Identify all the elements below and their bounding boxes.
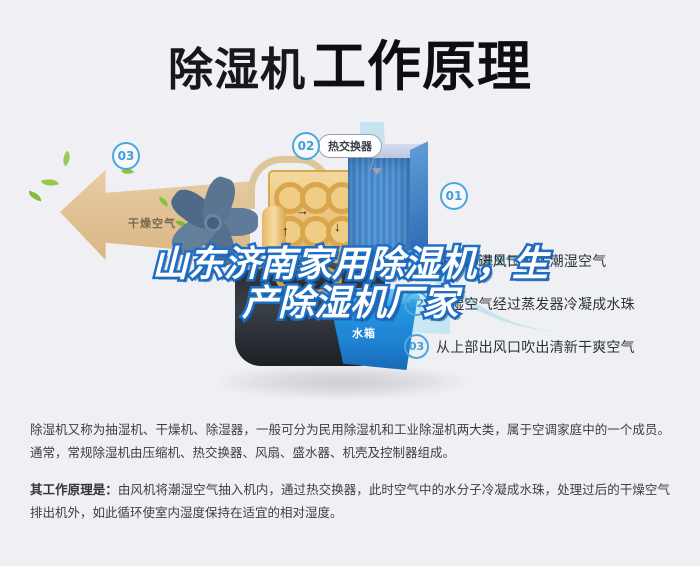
paragraph-1: 除湿机又称为抽湿机、干燥机、除湿器，一般可分为民用除湿机和工业除湿机两大类，属于…: [30, 418, 670, 464]
heat-exchanger-callout: 热交换器: [318, 134, 382, 158]
heat-exchanger-side: [410, 141, 428, 256]
paragraph-2: 其工作原理是：由风机将潮湿空气抽入机内，通过热交换器，此时空气中的水分子冷凝成水…: [30, 478, 670, 524]
flow-arrow-right-icon: →: [296, 204, 309, 217]
page-title: 除湿机工作原理: [0, 22, 700, 101]
step-item: 02 潮湿空气经过蒸发器冷凝成水珠: [404, 291, 684, 316]
step-list: 01 从下部进风口抽入潮湿空气 02 潮湿空气经过蒸发器冷凝成水珠 03 从上部…: [404, 248, 684, 377]
article-body: 除湿机又称为抽湿机、干燥机、除湿器，一般可分为民用除湿机和工业除湿机两大类，属于…: [30, 418, 670, 538]
step-badge: 03: [404, 334, 429, 359]
flow-arrow-down-icon: ↓: [334, 220, 341, 233]
leaf-icon: [59, 151, 74, 167]
diagram-badge-01: 01: [440, 182, 468, 210]
step-badge: 02: [404, 291, 429, 316]
infographic-page: 除湿机工作原理 干燥空气 潮湿空气: [0, 0, 700, 566]
step-item: 01 从下部进风口抽入潮湿空气: [404, 248, 684, 273]
paragraph-2-lead: 其工作原理是：: [30, 482, 118, 497]
diagram-badge-02: 02: [292, 132, 320, 160]
callout-tip: [372, 168, 382, 175]
fan-hub: [204, 214, 222, 232]
title-part-2: 工作原理: [312, 35, 532, 98]
flow-arrow-up-icon: ↑: [282, 224, 289, 237]
water-tank-label: 水箱: [352, 325, 376, 341]
step-label: 从下部进风口抽入潮湿空气: [436, 251, 606, 271]
leaf-icon: [41, 176, 59, 190]
leaf-icon: [27, 191, 42, 202]
step-label: 潮湿空气经过蒸发器冷凝成水珠: [436, 294, 635, 314]
illustration-stage: 干燥空气 潮湿空气 → ↑ ↓: [0, 120, 700, 410]
step-label: 从上部出风口吹出清新干爽空气: [436, 337, 635, 357]
diagram-badge-03: 03: [112, 142, 140, 170]
paragraph-2-rest: 由风机将潮湿空气抽入机内，通过热交换器，此时空气中的水分子冷凝成水珠，处理过后的…: [30, 482, 670, 520]
title-part-1: 除湿机: [168, 43, 306, 96]
step-item: 03 从上部出风口吹出清新干爽空气: [404, 334, 684, 359]
step-badge: 01: [404, 248, 429, 273]
